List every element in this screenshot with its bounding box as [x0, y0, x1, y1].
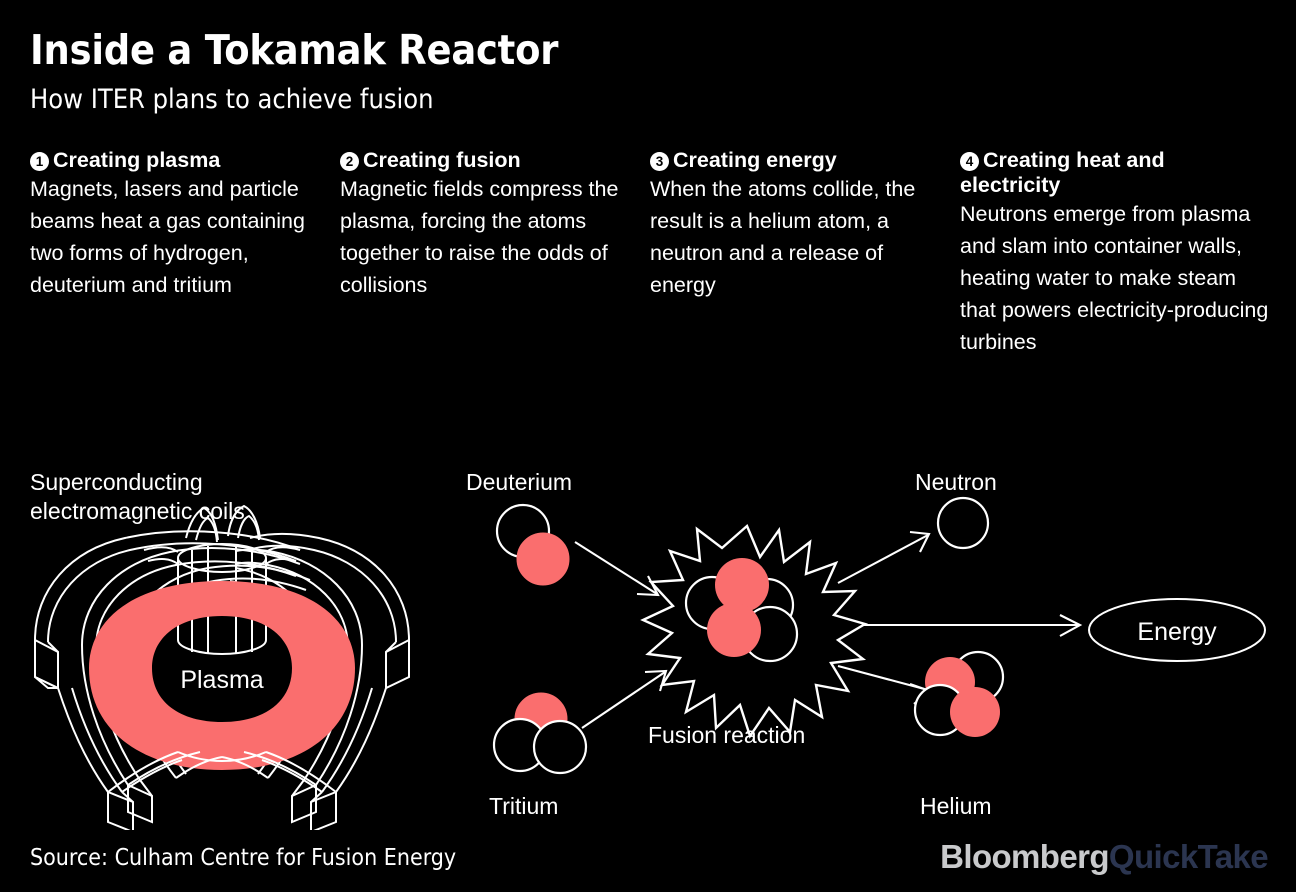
fused-nucleus — [686, 558, 797, 661]
infographic-page: Inside a Tokamak Reactor How ITER plans … — [0, 0, 1296, 892]
page-title: Inside a Tokamak Reactor — [30, 30, 1270, 71]
tritium-label: Tritium — [489, 792, 558, 821]
proton-particle — [715, 558, 769, 612]
helium-label: Helium — [920, 792, 992, 821]
diagram-area: Superconducting electromagnetic coils Pl… — [0, 440, 1296, 830]
energy-label: Energy — [1137, 617, 1216, 648]
step-item-2: 2Creating fusion Magnetic fields compres… — [340, 148, 650, 358]
fusion-reaction-label: Fusion reaction — [648, 721, 805, 750]
header: Inside a Tokamak Reactor How ITER plans … — [30, 30, 1270, 114]
tritium-atom — [494, 693, 586, 773]
coils-label: Superconducting electromagnetic coils — [30, 468, 245, 526]
step-heading: 4Creating heat and electricity — [960, 148, 1270, 198]
source-note: Source: Culham Centre for Fusion Energy — [30, 845, 456, 871]
step-body: Magnetic fields compress the plasma, for… — [340, 174, 626, 302]
step-number-badge: 2 — [340, 152, 359, 171]
step-body: Neutrons emerge from plasma and slam int… — [960, 199, 1270, 359]
proton-particle — [517, 533, 569, 585]
neutron-product — [938, 498, 988, 548]
step-item-3: 3Creating energy When the atoms collide,… — [650, 148, 960, 358]
step-heading-text: Creating plasma — [53, 148, 220, 172]
arrow-fusion-to-neutron — [838, 532, 929, 583]
step-heading-text: Creating fusion — [363, 148, 521, 172]
step-item-4: 4Creating heat and electricity Neutrons … — [960, 148, 1270, 358]
arrow-fusion-to-helium — [838, 666, 930, 704]
tokamak-front-coils — [108, 752, 336, 792]
steps-list: 1Creating plasma Magnets, lasers and par… — [30, 148, 1270, 358]
step-heading: 3Creating energy — [650, 148, 936, 173]
step-heading: 1Creating plasma — [30, 148, 316, 173]
step-body: When the atoms collide, the result is a … — [650, 174, 936, 302]
deuterium-atom — [497, 505, 569, 585]
logo-product-text: QuickTake — [1109, 838, 1268, 875]
bloomberg-quicktake-logo: BloombergQuickTake — [940, 838, 1268, 876]
logo-brand-text: Bloomberg — [940, 838, 1109, 875]
step-heading-text: Creating heat and electricity — [960, 148, 1165, 197]
step-body: Magnets, lasers and particle beams heat … — [30, 174, 316, 302]
neutron-label: Neutron — [915, 468, 997, 497]
arrow-tritium-to-fusion — [582, 671, 666, 728]
arrow-deuterium-to-fusion — [575, 542, 658, 595]
arrow-fusion-to-energy — [864, 615, 1080, 636]
step-number-badge: 4 — [960, 152, 979, 171]
helium-atom — [915, 652, 1003, 737]
plasma-label-text: Plasma — [180, 665, 263, 696]
neutron-particle — [534, 721, 586, 773]
step-heading: 2Creating fusion — [340, 148, 626, 173]
step-number-badge: 3 — [650, 152, 669, 171]
proton-particle — [950, 687, 1000, 737]
step-item-1: 1Creating plasma Magnets, lasers and par… — [30, 148, 340, 358]
page-subtitle: How ITER plans to achieve fusion — [30, 86, 1270, 114]
step-number-badge: 1 — [30, 152, 49, 171]
proton-particle — [707, 603, 761, 657]
deuterium-label: Deuterium — [466, 468, 572, 497]
step-heading-text: Creating energy — [673, 148, 837, 172]
